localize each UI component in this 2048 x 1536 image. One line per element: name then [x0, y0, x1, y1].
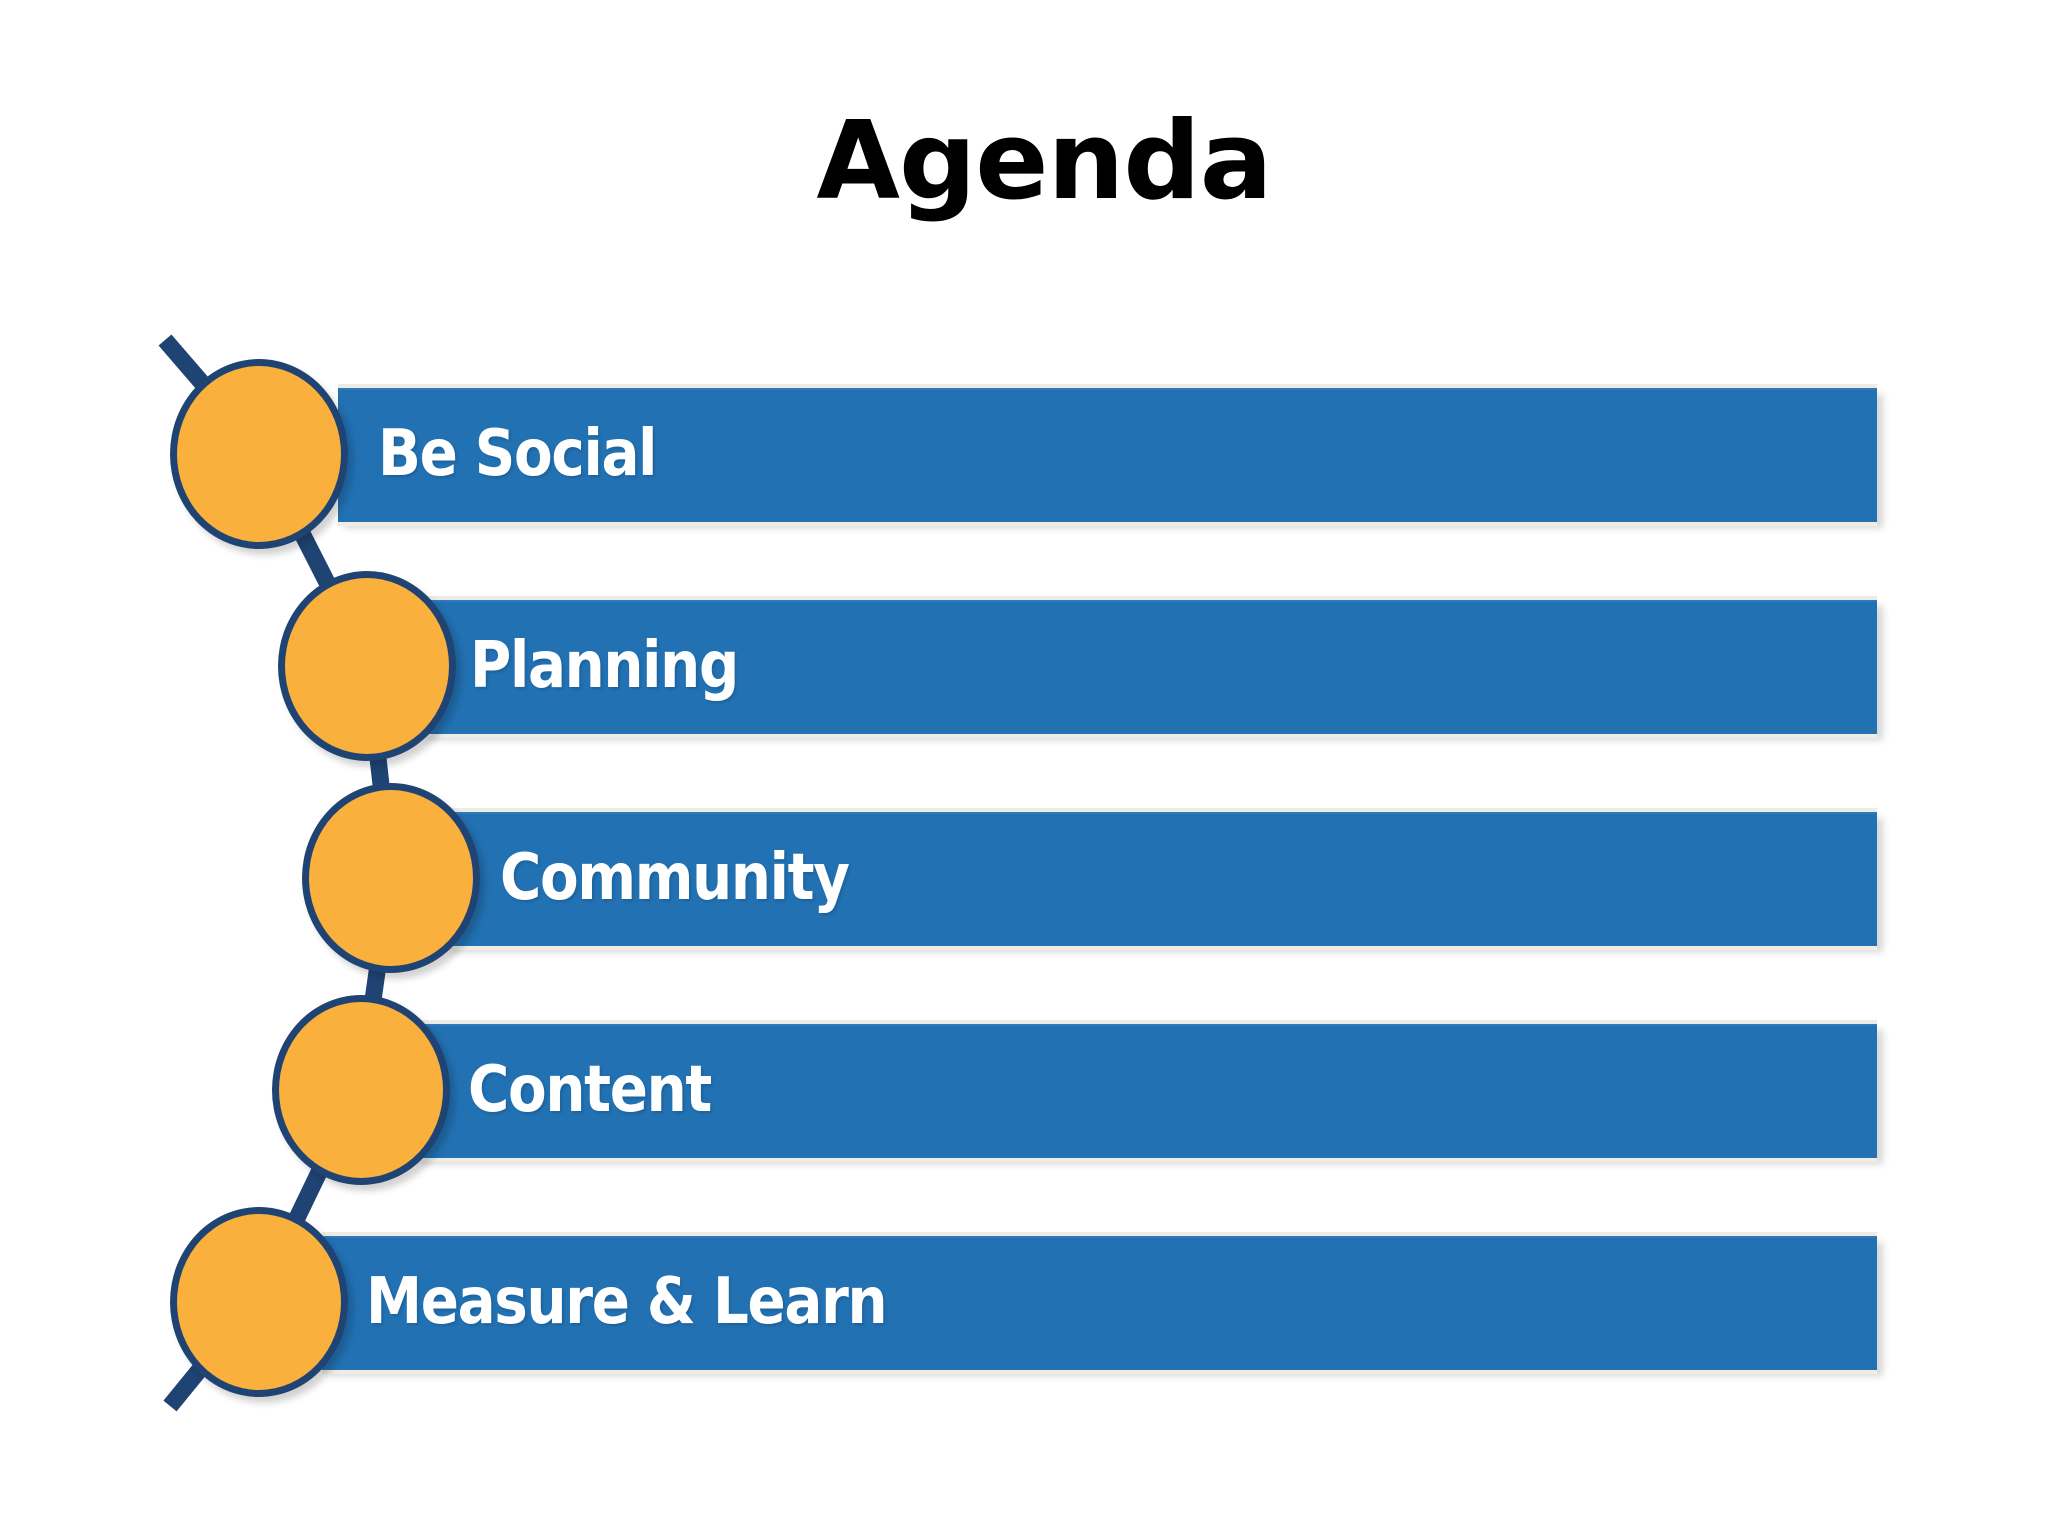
agenda-step-circle-icon[interactable]	[278, 571, 456, 761]
agenda-step-circle-icon[interactable]	[170, 1207, 348, 1397]
agenda-step-circle-icon[interactable]	[272, 995, 450, 1185]
agenda-step-circle-icon[interactable]	[170, 359, 348, 549]
agenda-circles	[0, 0, 2048, 1536]
agenda-slide: Agenda Be SocialPlanningCommunityContent…	[0, 0, 2048, 1536]
agenda-step-circle-icon[interactable]	[302, 783, 480, 973]
